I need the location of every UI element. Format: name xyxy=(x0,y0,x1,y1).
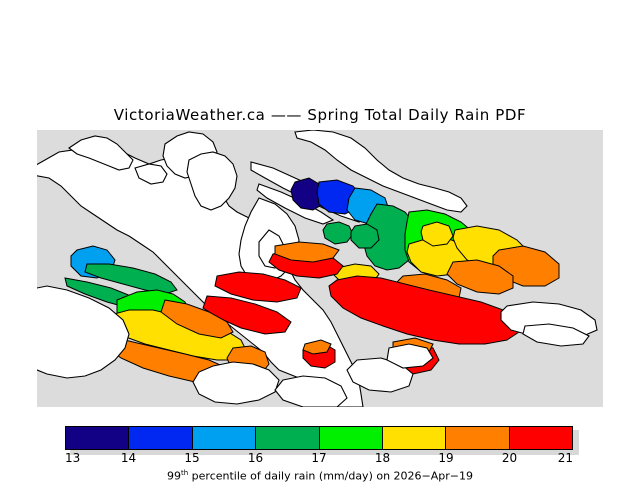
colorbar-segment-17-18[interactable] xyxy=(320,427,383,449)
colorbar-tick-labels: 131415161718192021 xyxy=(65,451,573,467)
colorbar-segment-16-17[interactable] xyxy=(256,427,319,449)
colorbar-tick-13: 13 xyxy=(65,451,80,465)
colorbar-tick-16: 16 xyxy=(248,451,263,465)
colorbar-tick-19: 19 xyxy=(438,451,453,465)
caption-suffix: percentile of daily rain (mm/day) on 202… xyxy=(188,470,473,483)
colorbar-tick-20: 20 xyxy=(502,451,517,465)
page-title: VictoriaWeather.ca —— Spring Total Daily… xyxy=(0,106,640,124)
colorbar-tick-17: 17 xyxy=(311,451,326,465)
colorbar-segment-19-20[interactable] xyxy=(446,427,509,449)
colorbar-segment-13-14[interactable] xyxy=(66,427,129,449)
colorbar-tick-15: 15 xyxy=(184,451,199,465)
colorbar-segment-20-21[interactable] xyxy=(510,427,572,449)
caption-prefix: 99 xyxy=(167,470,181,483)
colorbar-tick-14: 14 xyxy=(121,451,136,465)
map-canvas[interactable] xyxy=(37,130,603,407)
colorbar-tick-18: 18 xyxy=(375,451,390,465)
colorbar-area: 131415161718192021 99th percentile of da… xyxy=(0,418,640,480)
map-panel[interactable] xyxy=(37,130,603,407)
colorbar-segment-14-15[interactable] xyxy=(129,427,192,449)
colorbar-tick-21: 21 xyxy=(558,451,573,465)
colorbar-caption: 99th percentile of daily rain (mm/day) o… xyxy=(0,469,640,483)
weather-map-page: VictoriaWeather.ca —— Spring Total Daily… xyxy=(0,0,640,480)
colorbar-segment-15-16[interactable] xyxy=(193,427,256,449)
colorbar[interactable] xyxy=(65,426,573,450)
colorbar-segment-18-19[interactable] xyxy=(383,427,446,449)
